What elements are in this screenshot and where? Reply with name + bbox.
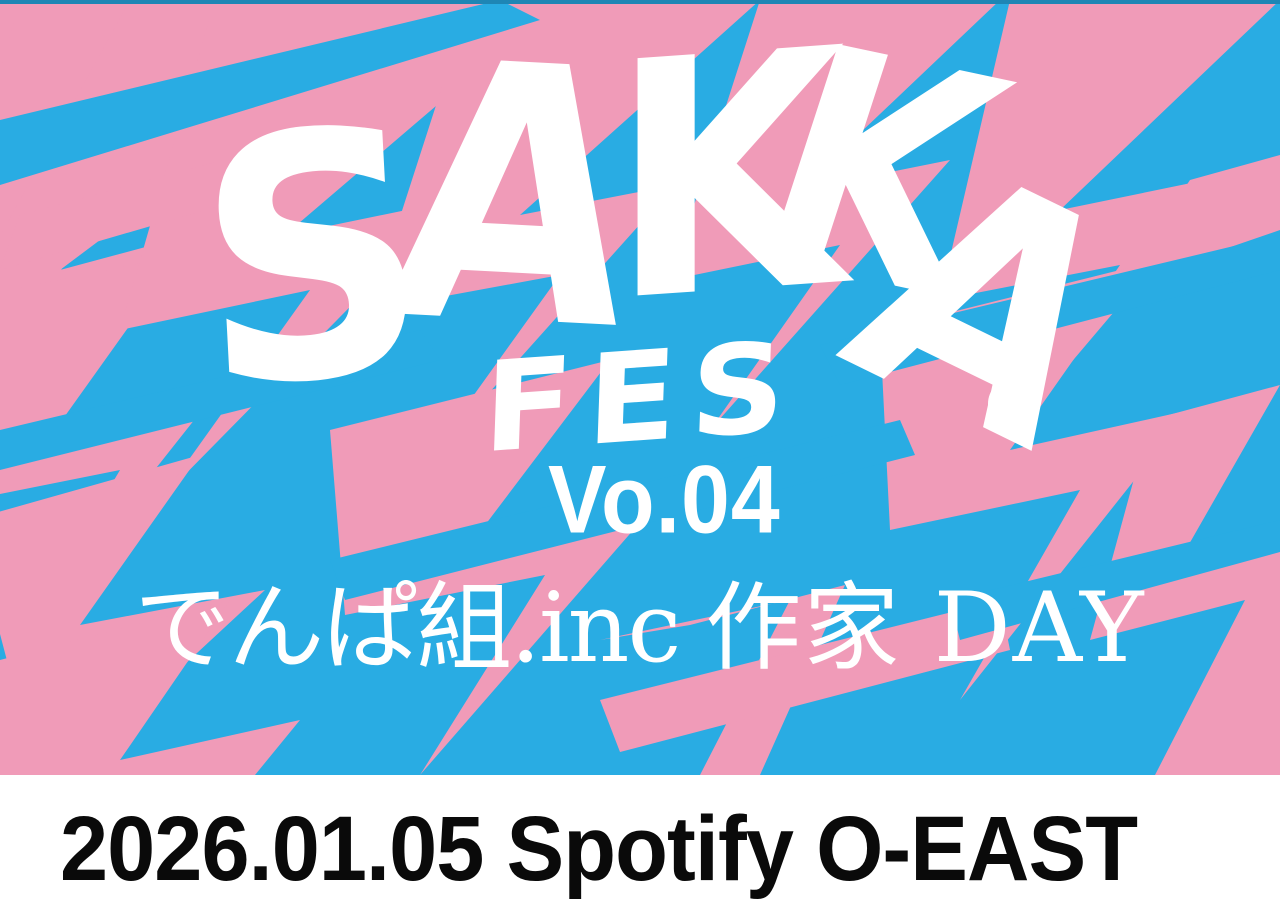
event-date-venue: 2026.01.05 Spotify O-EAST: [60, 803, 1137, 895]
saku-circle-mark-icon: 作: [988, 378, 1040, 430]
artist-day-line: でんぱ組.inc 作家 DAY: [0, 568, 1280, 688]
saku-kanji-glyph: 作: [997, 387, 1031, 421]
artist-name: でんぱ組.inc: [134, 580, 679, 676]
poster-artwork: S A K K A FES Vo.04 作 でんぱ組.inc 作家 DAY: [0, 0, 1280, 775]
artist-day-label: 作家 DAY: [705, 580, 1145, 676]
event-info-bar: 2026.01.05 Spotify O-EAST: [0, 775, 1280, 922]
logo-volume-label: Vo.04: [548, 452, 781, 548]
poster-root: S A K K A FES Vo.04 作 でんぱ組.inc 作家 DAY 20…: [0, 0, 1280, 922]
